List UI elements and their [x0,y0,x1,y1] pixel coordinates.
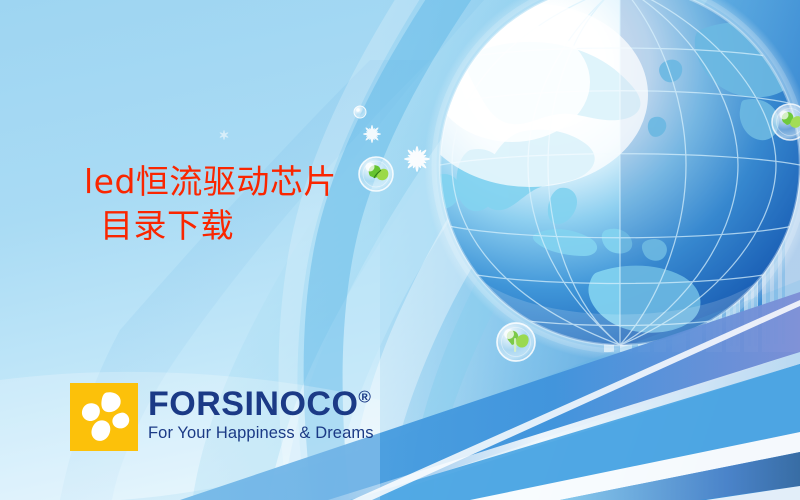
brand-name: FORSINOCO® [148,387,374,421]
bubble-icon [354,106,366,118]
company-logo: FORSINOCO® For Your Happiness & Dreams [70,383,374,451]
registered-trademark-icon: ® [358,388,371,407]
logo-text: FORSINOCO® For Your Happiness & Dreams [148,383,374,443]
pinwheel-petals-svg [70,383,138,451]
brand-word: FORSINOCO [148,385,358,423]
banner-canvas: led恒流驱动芯片 目录下载 FORSINOCO® For Your Happi… [0,0,800,500]
brand-tagline: For Your Happiness & Dreams [148,424,374,443]
pinwheel-petals-icon [70,383,138,451]
